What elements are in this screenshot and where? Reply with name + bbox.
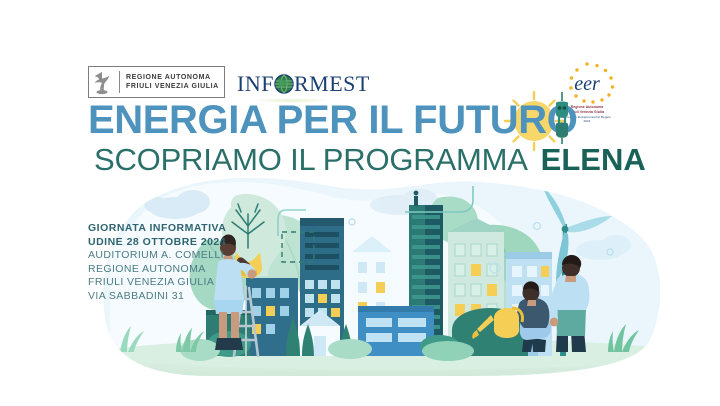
event-kicker: GIORNATA INFORMATIVA <box>88 222 226 236</box>
region-logo-line2: FRIULI VENEZIA GIULIA <box>126 82 219 91</box>
event-venue-line4: VIA SABBADINI 31 <box>88 290 226 304</box>
headline-line2: SCOPRIAMO IL PROGRAMMAELENA <box>94 142 646 178</box>
logo-divider <box>119 71 120 93</box>
region-logo-text: REGIONE AUTONOMA FRIULI VENEZIA GIULIA <box>126 73 219 91</box>
regione-autonoma-friuli-venezia-giulia-logo: REGIONE AUTONOMA FRIULI VENEZIA GIULIA <box>88 66 225 98</box>
headline-line2-highlight: ELENA <box>541 142 646 177</box>
event-venue-line1: AUDITORIUM A. COMELLI <box>88 249 226 263</box>
informest-text-before: INF <box>237 71 274 97</box>
bush-icon <box>422 341 474 361</box>
eagle-icon <box>91 69 113 95</box>
event-venue-line2: REGIONE AUTONOMA <box>88 263 226 277</box>
event-info-block: GIORNATA INFORMATIVA UDINE 28 OTTOBRE 20… <box>88 222 226 303</box>
plug-icon <box>547 92 577 146</box>
headline-block: ENERGIA PER IL FUTURO SCOPRIAMO IL PROGR… <box>88 98 648 142</box>
svg-text:eer: eer <box>574 73 600 95</box>
informest-text-after: RMEST <box>294 71 370 97</box>
informest-logo: INF RMEST <box>237 71 370 97</box>
event-venue-line3: FRIULI VENEZIA GIULIA <box>88 276 226 290</box>
globe-icon <box>274 74 294 94</box>
headline-line2-prefix: SCOPRIAMO IL PROGRAMMA <box>94 142 528 177</box>
region-logo-line1: REGIONE AUTONOMA <box>126 73 219 82</box>
poster-canvas: REGIONE AUTONOMA FRIULI VENEZIA GIULIA I… <box>0 0 720 406</box>
logo-row: REGIONE AUTONOMA FRIULI VENEZIA GIULIA I… <box>0 30 720 100</box>
event-date: UDINE 28 OTTOBRE 2024 <box>88 236 226 250</box>
